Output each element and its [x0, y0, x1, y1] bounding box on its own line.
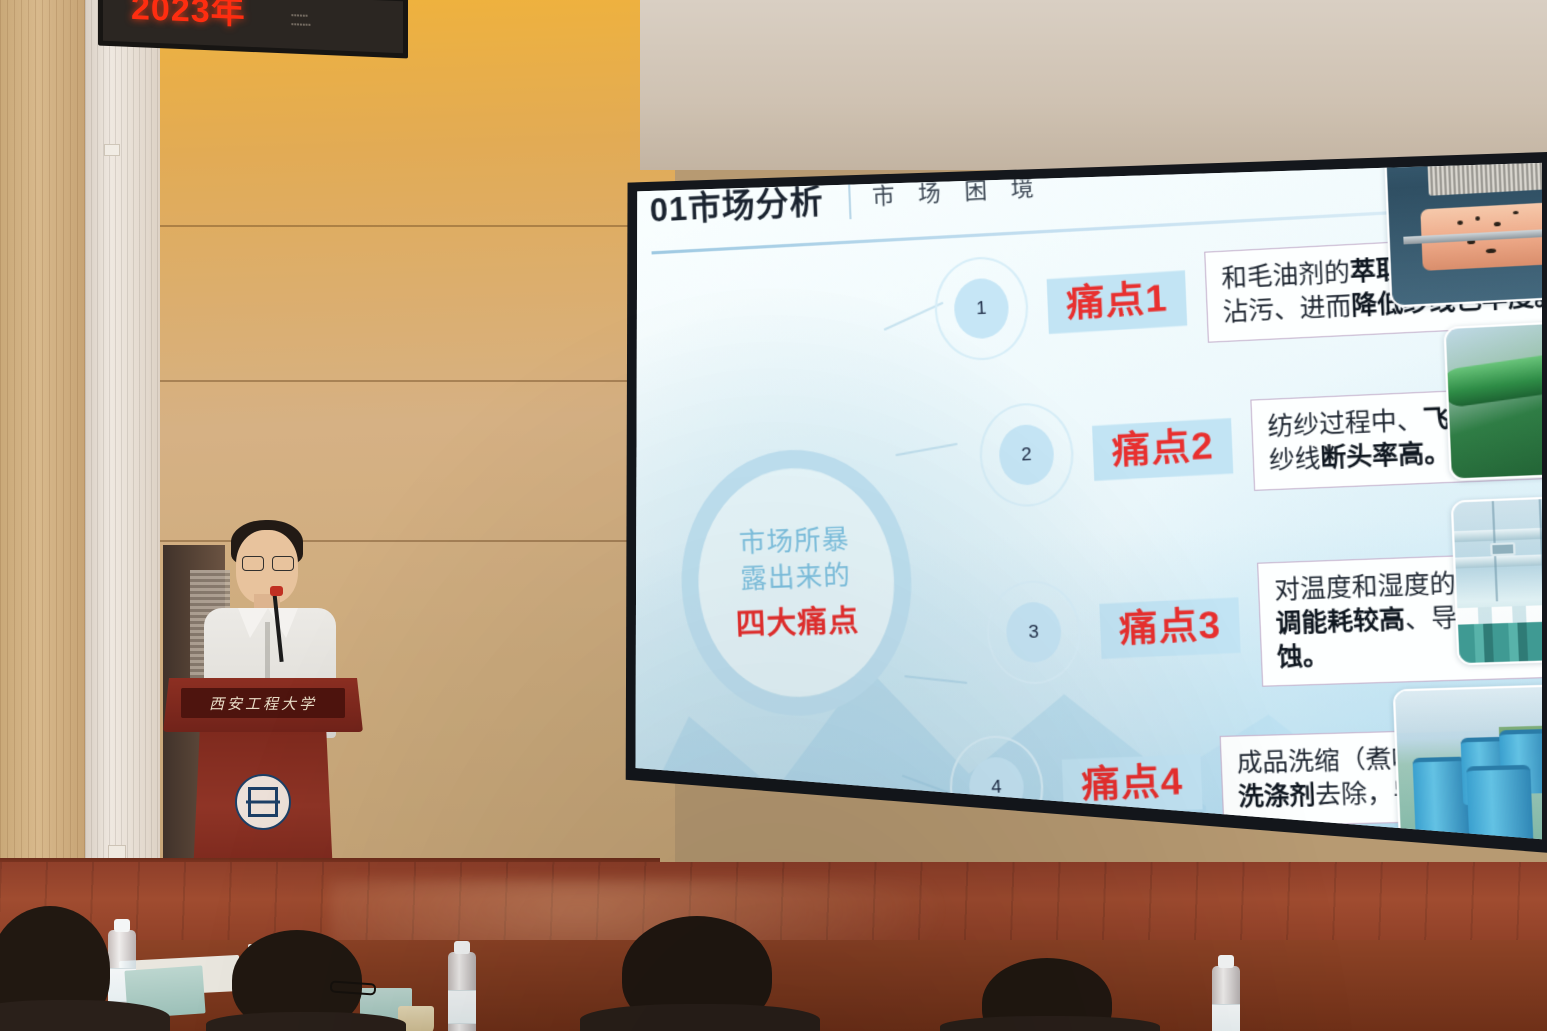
pain-point-number-2: 2 [978, 401, 1076, 508]
pain-point-tag-2: 痛点2 [1092, 418, 1234, 481]
water-bottle-2[interactable] [448, 952, 476, 1031]
tanks-photo-content [1395, 684, 1542, 851]
pain-point-number-2-text: 2 [1021, 444, 1032, 466]
audience-shoulder-1 [0, 1000, 170, 1031]
pain-point-tag-1: 痛点1 [1047, 270, 1188, 334]
pain-point-tag-3: 痛点3 [1099, 597, 1241, 658]
desc-1-mid: 沾污、进而 [1222, 291, 1352, 326]
led-banner-secondary-text: ▪▪▪▪▪▪▪▪▪▪▪▪▪ [291, 11, 391, 34]
audience-shoulder-3 [580, 1004, 820, 1031]
desc-1-lead: 和毛油剂的 [1221, 257, 1351, 292]
green-spinning-machine-photo [1443, 318, 1542, 481]
pain-point-number-1-text: 1 [976, 298, 987, 320]
auditorium-scene: 2023年 ▪▪▪▪▪▪▪▪▪▪▪▪▪ 01市场分析 市 场 困 境 西安工程大… [0, 0, 1547, 1031]
bottle-label [1212, 1004, 1240, 1031]
presentation-slide: 01市场分析 市 场 困 境 西安工程大学 XI'AN POLYTECHNIC … [630, 160, 1542, 872]
blue-wastewater-tanks-photo [1393, 682, 1542, 854]
led-banner-text: 2023年 [131, 0, 246, 34]
center-hub: 市场所暴 露出来的 四大痛点 [676, 445, 916, 719]
audience-shoulder-2 [206, 1012, 406, 1031]
bottle-label [448, 990, 476, 1024]
hub-text-group: 市场所暴 露出来的 四大痛点 [676, 445, 916, 719]
wall-outlet-plate[interactable] [108, 845, 126, 859]
podium-nameplate: 西安工程大学 [181, 688, 345, 718]
green-machine-photo-content [1446, 320, 1542, 478]
desc-2-lead: 纺纱过程中、 [1267, 405, 1423, 440]
photo-factory-machines [1458, 619, 1542, 663]
factory-photo-content [1453, 496, 1542, 664]
hub-line-3: 四大痛点 [735, 597, 860, 644]
hub-line-1: 市场所暴 [738, 522, 850, 560]
wall-seam-2 [155, 380, 675, 382]
photo-beam-2 [1538, 499, 1542, 599]
roller-photo-content [1386, 160, 1542, 305]
wall-upper-right [640, 0, 1547, 170]
desc-2-bold-2: 断头率高。 [1320, 438, 1451, 472]
pain-point-number-1: 1 [933, 255, 1030, 363]
photo-vent-1 [1490, 542, 1515, 556]
factory-hvac-ceiling-photo [1451, 493, 1542, 665]
desc-2-mid: 纱线 [1268, 443, 1321, 474]
wall-seam-1 [155, 225, 675, 227]
microphone-head [270, 586, 283, 596]
water-bottle-3[interactable] [1212, 966, 1240, 1031]
pain-point-number-4: 4 [948, 734, 1045, 840]
projection-screen: 01市场分析 市 场 困 境 西安工程大学 XI'AN POLYTECHNIC … [630, 160, 1542, 872]
pain-point-number-3-text: 3 [1028, 622, 1039, 644]
photo-duct-1 [1451, 524, 1542, 543]
wall-switch-plate[interactable] [104, 144, 120, 156]
audience-shoulder-4 [940, 1016, 1160, 1031]
hub-line-2: 露出来的 [740, 558, 852, 596]
university-seal-podium-icon [235, 774, 291, 830]
pain-point-number-3: 3 [985, 579, 1083, 685]
photo-green-tube [1443, 347, 1542, 410]
roller-contamination-photo [1383, 160, 1542, 308]
podium-label: 西安工程大学 [209, 693, 317, 714]
presenter-glasses [242, 556, 294, 569]
pain-point-number-4-text: 4 [991, 776, 1002, 798]
photo-dirt-spot [1512, 211, 1518, 215]
